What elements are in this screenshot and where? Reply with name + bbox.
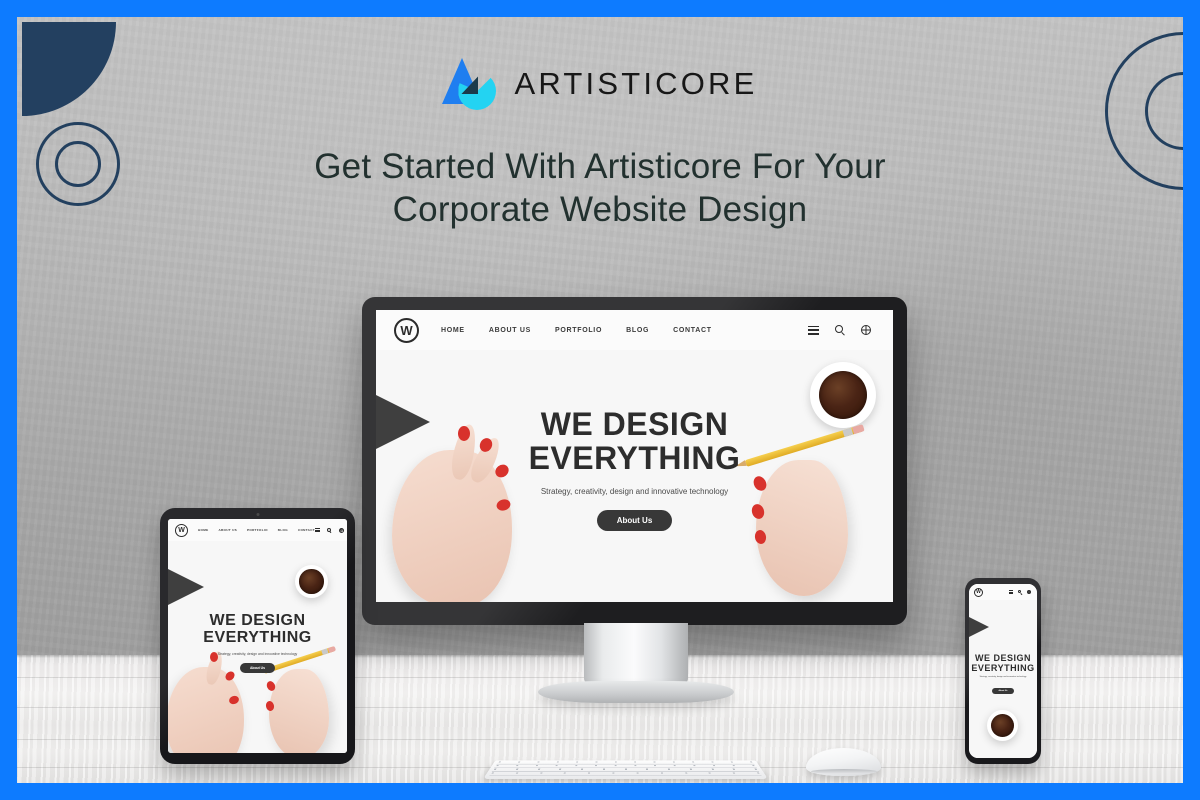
hero-section-tablet: WE DESIGN EVERYTHING Strategy, creativit…	[168, 613, 347, 674]
hero-title-line-1: WE DESIGN	[376, 408, 893, 442]
nav-item-about-us[interactable]: ABOUT US	[489, 327, 531, 334]
desktop-monitor-mockup: W HOME ABOUT US PORTFOLIO BLOG CONTACT	[362, 297, 907, 625]
headline-line-2: Corporate Website Design	[17, 188, 1183, 231]
site-logo-icon[interactable]: W	[394, 318, 419, 343]
site-nav-desktop: W HOME ABOUT US PORTFOLIO BLOG CONTACT	[376, 310, 893, 350]
hero-subtitle: Strategy, creativity, design and innovat…	[376, 487, 893, 496]
about-us-button[interactable]: About Us	[992, 688, 1015, 694]
hero-section-desktop: WE DESIGN EVERYTHING Strategy, creativit…	[376, 408, 893, 531]
keyboard-keys	[496, 765, 755, 766]
nav-icon-group	[1009, 590, 1031, 594]
site-logo-icon[interactable]: W	[175, 524, 188, 537]
tablet-camera-icon	[256, 513, 259, 516]
hero-title-line-2: EVERYTHING	[168, 630, 347, 647]
decorative-arrow-shape	[969, 610, 989, 644]
site-nav-tablet: W HOME ABOUT US PORTFOLIO BLOG CONTACT	[168, 519, 347, 541]
tablet-screen: W HOME ABOUT US PORTFOLIO BLOG CONTACT	[168, 519, 347, 753]
coffee-cup	[987, 710, 1018, 741]
page-title: Get Started With Artisticore For Your Co…	[17, 145, 1183, 232]
hero-title-line-1: WE DESIGN	[168, 613, 347, 630]
hero-section-phone: WE DESIGN EVERYTHING Strategy, creativit…	[969, 654, 1037, 696]
coffee-cup	[295, 565, 328, 598]
nav-item-contact[interactable]: CONTACT	[673, 327, 712, 334]
nail-polish	[265, 680, 277, 692]
hamburger-menu-icon[interactable]	[315, 528, 320, 533]
keyboard-keys	[494, 769, 757, 770]
monitor-stand-base	[538, 681, 734, 703]
nav-item-home[interactable]: HOME	[198, 528, 208, 532]
monitor-screen: W HOME ABOUT US PORTFOLIO BLOG CONTACT	[376, 310, 893, 602]
site-logo-icon[interactable]: W	[974, 588, 983, 597]
monitor-stand-neck	[584, 623, 688, 685]
keyboard-keys	[498, 761, 752, 762]
decorative-arrow-shape	[168, 557, 204, 617]
nav-links: HOME ABOUT US PORTFOLIO BLOG CONTACT	[198, 528, 315, 532]
artisticore-logo-icon	[442, 58, 500, 110]
nail-polish	[228, 695, 240, 706]
wireless-keyboard[interactable]	[483, 760, 768, 779]
brand-name: ARTISTICORE	[514, 66, 757, 102]
website-preview-desktop: W HOME ABOUT US PORTFOLIO BLOG CONTACT	[376, 310, 893, 602]
globe-language-icon[interactable]	[339, 528, 344, 533]
search-icon[interactable]	[1018, 590, 1022, 594]
about-us-button[interactable]: About Us	[597, 510, 673, 531]
right-hand-photo	[269, 669, 329, 753]
globe-language-icon[interactable]	[861, 325, 871, 335]
nav-item-contact[interactable]: CONTACT	[298, 528, 315, 532]
hamburger-menu-icon[interactable]	[808, 326, 819, 335]
nav-item-blog[interactable]: BLOG	[626, 327, 649, 334]
search-icon[interactable]	[327, 528, 332, 533]
phone-mockup: W WE DESIGN	[965, 578, 1041, 764]
nav-links: HOME ABOUT US PORTFOLIO BLOG CONTACT	[441, 327, 712, 334]
tablet-mockup: W HOME ABOUT US PORTFOLIO BLOG CONTACT	[160, 508, 355, 764]
keyboard-keys	[491, 772, 759, 773]
phone-screen: W WE DESIGN	[969, 584, 1037, 758]
nav-item-portfolio[interactable]: PORTFOLIO	[247, 528, 268, 532]
hero-title-line-2: EVERYTHING	[376, 442, 893, 476]
nav-item-home[interactable]: HOME	[441, 327, 465, 334]
brand-logo: ARTISTICORE	[17, 58, 1183, 110]
poster-stage: ARTISTICORE Get Started With Artisticore…	[17, 17, 1183, 783]
search-icon[interactable]	[835, 325, 845, 335]
globe-language-icon[interactable]	[1027, 590, 1031, 594]
nav-icon-group	[315, 528, 344, 533]
hamburger-menu-icon[interactable]	[1009, 590, 1013, 594]
left-hand-photo	[168, 667, 244, 753]
website-preview-tablet: W HOME ABOUT US PORTFOLIO BLOG CONTACT	[168, 519, 347, 753]
website-preview-phone: W WE DESIGN	[969, 584, 1037, 758]
nav-icon-group	[808, 325, 871, 335]
hero-title-line-2: EVERYTHING	[969, 664, 1037, 674]
blue-border-frame: ARTISTICORE Get Started With Artisticore…	[0, 0, 1200, 800]
about-us-button[interactable]: About Us	[240, 663, 275, 673]
nav-item-blog[interactable]: BLOG	[278, 528, 288, 532]
nail-polish	[265, 700, 275, 712]
headline-line-1: Get Started With Artisticore For Your	[17, 145, 1183, 188]
hero-subtitle: Strategy, creativity, design and innovat…	[168, 652, 347, 656]
nav-item-portfolio[interactable]: PORTFOLIO	[555, 327, 602, 334]
nail-polish	[754, 529, 767, 545]
site-nav-phone: W	[969, 584, 1037, 600]
nav-item-about-us[interactable]: ABOUT US	[218, 528, 237, 532]
hero-subtitle: Strategy, creativity, design and innovat…	[969, 676, 1037, 678]
